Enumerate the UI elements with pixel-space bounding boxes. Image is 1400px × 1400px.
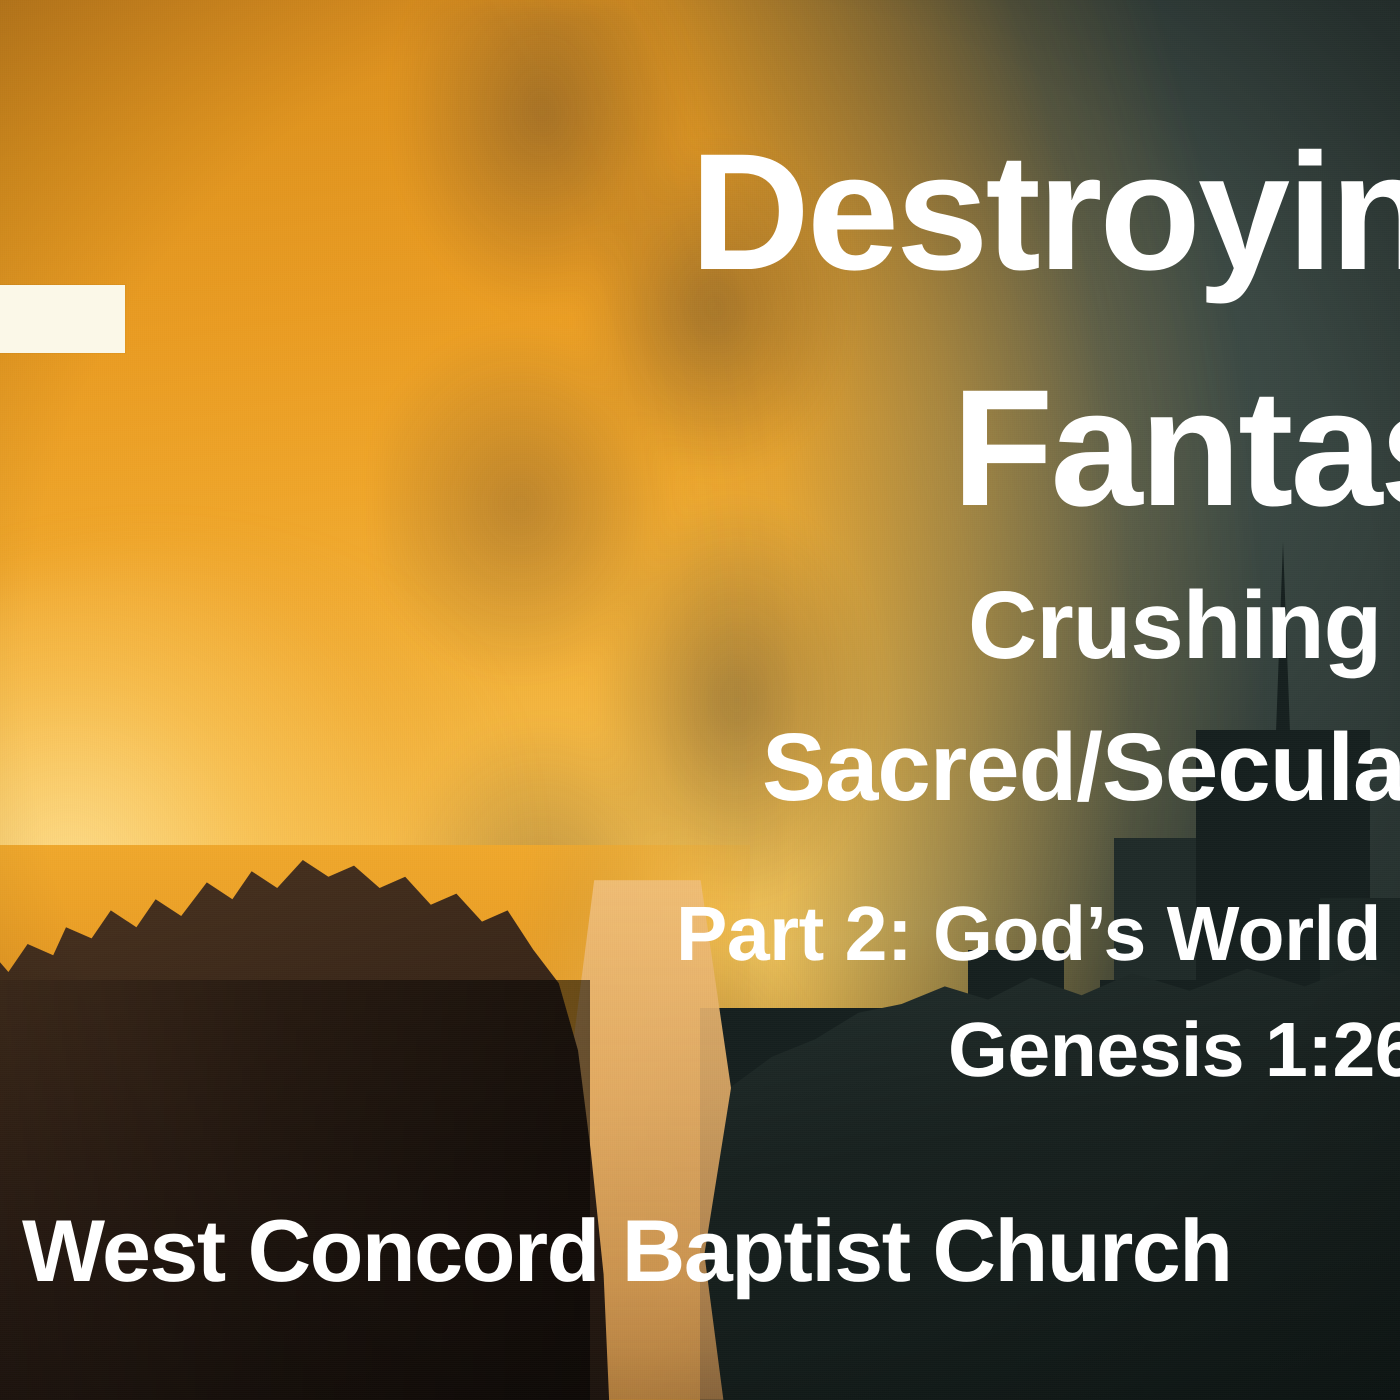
subtitle-line-2: Sacred/Secular Divide [762, 720, 1400, 816]
series-part-label: Part 2: God’s World [676, 896, 1381, 973]
title-line-2: Fantasy [952, 366, 1400, 532]
scripture-reference: Genesis 1:26-28 [948, 1012, 1400, 1089]
subtitle-line-1: Crushing the [968, 578, 1400, 674]
title-line-1: Destroying [690, 130, 1400, 296]
cover-art-canvas: Destroying Fantasy Crushing the Sacred/S… [0, 0, 1400, 1400]
cliff-left-shading [0, 980, 590, 1400]
organization-name: West Concord Baptist Church [22, 1207, 1232, 1295]
cream-accent-bar [0, 285, 125, 353]
